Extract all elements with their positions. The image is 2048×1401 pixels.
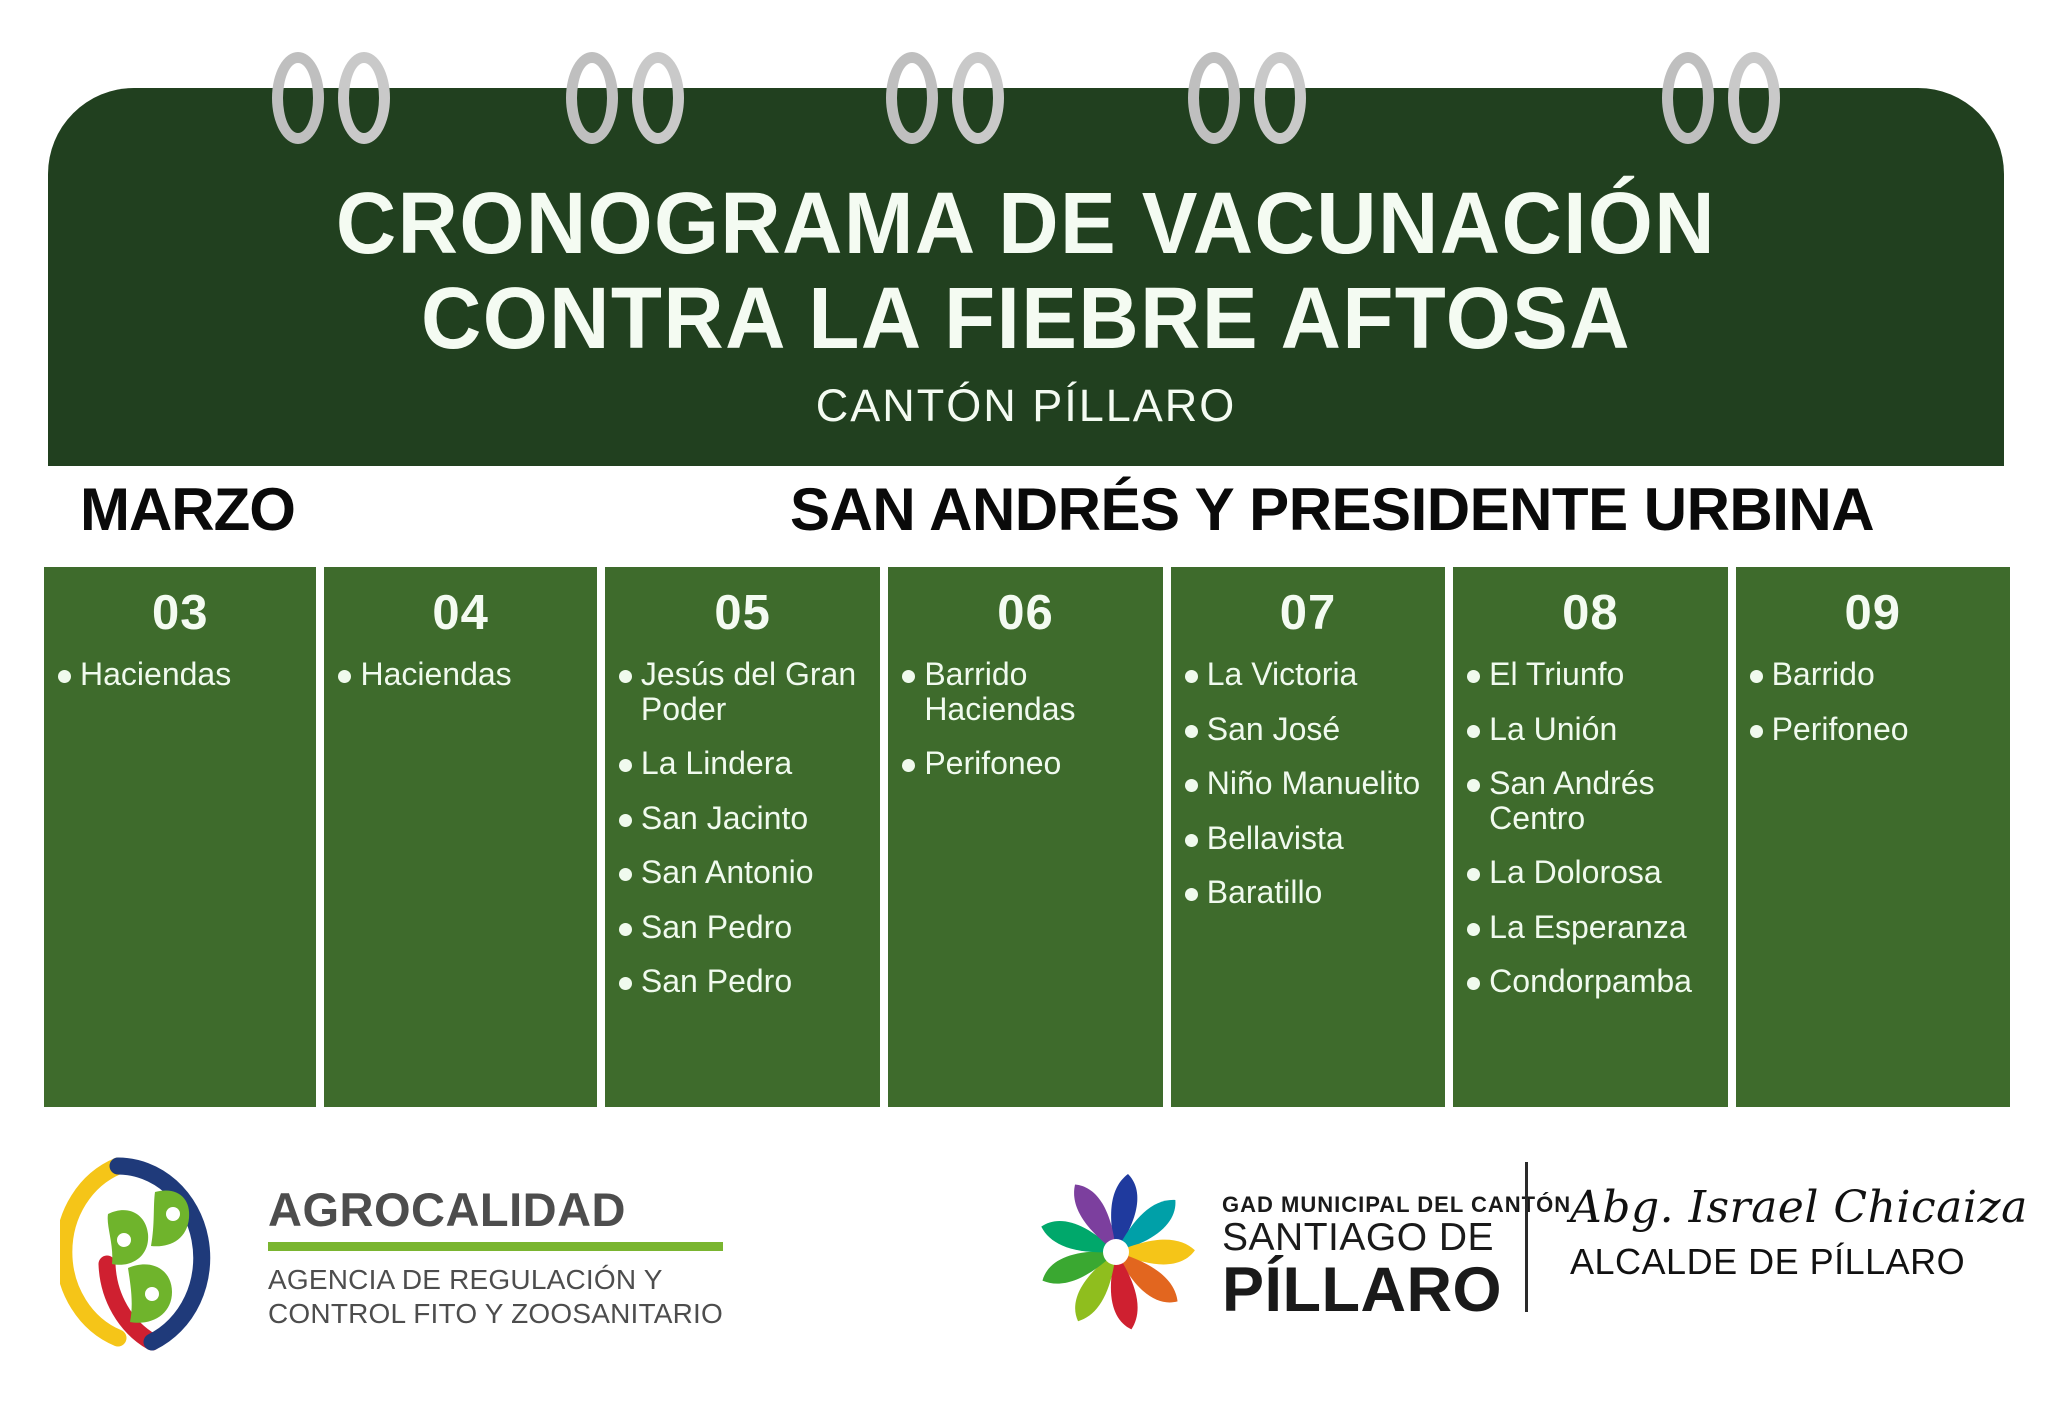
list-item: San Pedro: [619, 964, 870, 999]
list-item: San Andrés Centro: [1467, 766, 1717, 835]
agrocalidad-subtitle-line-2: CONTROL FITO Y ZOOSANITARIO: [268, 1297, 723, 1330]
mayor-name: Abg. Israel Chicaiza: [1570, 1182, 2028, 1233]
day-number: 09: [1736, 585, 2010, 641]
day-locations-list: Jesús del Gran Poder La Lindera San Jaci…: [605, 657, 880, 1019]
header-card: CRONOGRAMA DE VACUNACIÓN CONTRA LA FIEBR…: [48, 88, 2004, 466]
agrocalidad-emblem-icon: [60, 1152, 242, 1352]
list-item: Niño Manuelito: [1185, 766, 1435, 801]
list-item: Barrido: [1750, 657, 2000, 692]
day-column[interactable]: 07 La Victoria San José Niño Manuelito B…: [1171, 567, 1445, 1107]
list-item: San Antonio: [619, 855, 870, 890]
day-column[interactable]: 08 El Triunfo La Unión San Andrés Centro…: [1453, 567, 1727, 1107]
day-column[interactable]: 06 Barrido Haciendas Perifoneo: [888, 567, 1162, 1107]
list-item: La Dolorosa: [1467, 855, 1717, 890]
title-block: CRONOGRAMA DE VACUNACIÓN CONTRA LA FIEBR…: [48, 180, 2004, 432]
gad-mid-line: SANTIAGO DE: [1222, 1218, 1571, 1259]
footer: AGROCALIDAD AGENCIA DE REGULACIÓN Y CONT…: [0, 1140, 2048, 1401]
day-number: 05: [605, 585, 880, 641]
agrocalidad-title: AGROCALIDAD: [268, 1182, 723, 1237]
list-item: Barrido Haciendas: [902, 657, 1152, 726]
gad-logo-group: GAD MUNICIPAL DEL CANTÓN SANTIAGO DE PÍL…: [1030, 1162, 1571, 1342]
day-column[interactable]: 04 Haciendas: [324, 567, 596, 1107]
zone-label: SAN ANDRÉS Y PRESIDENTE URBINA: [790, 475, 1874, 544]
day-locations-list: Barrido Perifoneo: [1736, 657, 2010, 766]
day-number: 04: [324, 585, 596, 641]
list-item: Perifoneo: [1750, 712, 2000, 747]
footer-divider: [1525, 1162, 1528, 1312]
list-item: Perifoneo: [902, 746, 1152, 781]
day-locations-list: Haciendas: [44, 657, 316, 712]
day-locations-list: La Victoria San José Niño Manuelito Bell…: [1171, 657, 1445, 930]
list-item: Haciendas: [58, 657, 306, 692]
agrocalidad-underline: [268, 1242, 723, 1251]
list-item: Haciendas: [338, 657, 586, 692]
mayor-role: ALCALDE DE PÍLLARO: [1570, 1241, 2028, 1283]
list-item: San Pedro: [619, 910, 870, 945]
list-item: La Unión: [1467, 712, 1717, 747]
list-item: La Esperanza: [1467, 910, 1717, 945]
list-item: Baratillo: [1185, 875, 1435, 910]
gad-text: GAD MUNICIPAL DEL CANTÓN SANTIAGO DE PÍL…: [1222, 1182, 1571, 1322]
poster-root: CRONOGRAMA DE VACUNACIÓN CONTRA LA FIEBR…: [0, 0, 2048, 1401]
list-item: Bellavista: [1185, 821, 1435, 856]
day-locations-list: Haciendas: [324, 657, 596, 712]
list-item: San Jacinto: [619, 801, 870, 836]
day-column[interactable]: 09 Barrido Perifoneo: [1736, 567, 2010, 1107]
day-column[interactable]: 05 Jesús del Gran Poder La Lindera San J…: [605, 567, 880, 1107]
agrocalidad-logo-group: AGROCALIDAD AGENCIA DE REGULACIÓN Y CONT…: [60, 1152, 723, 1352]
list-item: La Victoria: [1185, 657, 1435, 692]
list-item: La Lindera: [619, 746, 870, 781]
pinwheel-icon: [1030, 1162, 1202, 1342]
gad-big-line: PÍLLARO: [1222, 1259, 1571, 1322]
poster-subtitle: CANTÓN PÍLLARO: [48, 380, 2004, 432]
list-item: El Triunfo: [1467, 657, 1717, 692]
day-number: 07: [1171, 585, 1445, 641]
mayor-block: Abg. Israel Chicaiza ALCALDE DE PÍLLARO: [1570, 1182, 2028, 1283]
agrocalidad-text: AGROCALIDAD AGENCIA DE REGULACIÓN Y CONT…: [268, 1174, 723, 1329]
day-number: 06: [888, 585, 1162, 641]
day-locations-list: Barrido Haciendas Perifoneo: [888, 657, 1162, 801]
schedule-days-row: 03 Haciendas 04 Haciendas 05 Jesús del G…: [44, 567, 2010, 1107]
list-item: Jesús del Gran Poder: [619, 657, 870, 726]
day-column[interactable]: 03 Haciendas: [44, 567, 316, 1107]
poster-title-line-1: CRONOGRAMA DE VACUNACIÓN: [87, 180, 1965, 267]
agrocalidad-subtitle-line-1: AGENCIA DE REGULACIÓN Y: [268, 1263, 723, 1296]
gad-small-line: GAD MUNICIPAL DEL CANTÓN: [1222, 1192, 1571, 1218]
section-header-row: MARZO SAN ANDRÉS Y PRESIDENTE URBINA: [48, 475, 2004, 553]
month-label: MARZO: [80, 475, 295, 544]
day-number: 03: [44, 585, 316, 641]
poster-title-line-2: CONTRA LA FIEBRE AFTOSA: [87, 275, 1965, 362]
list-item: San José: [1185, 712, 1435, 747]
list-item: Condorpamba: [1467, 964, 1717, 999]
day-number: 08: [1453, 585, 1727, 641]
day-locations-list: El Triunfo La Unión San Andrés Centro La…: [1453, 657, 1727, 1019]
